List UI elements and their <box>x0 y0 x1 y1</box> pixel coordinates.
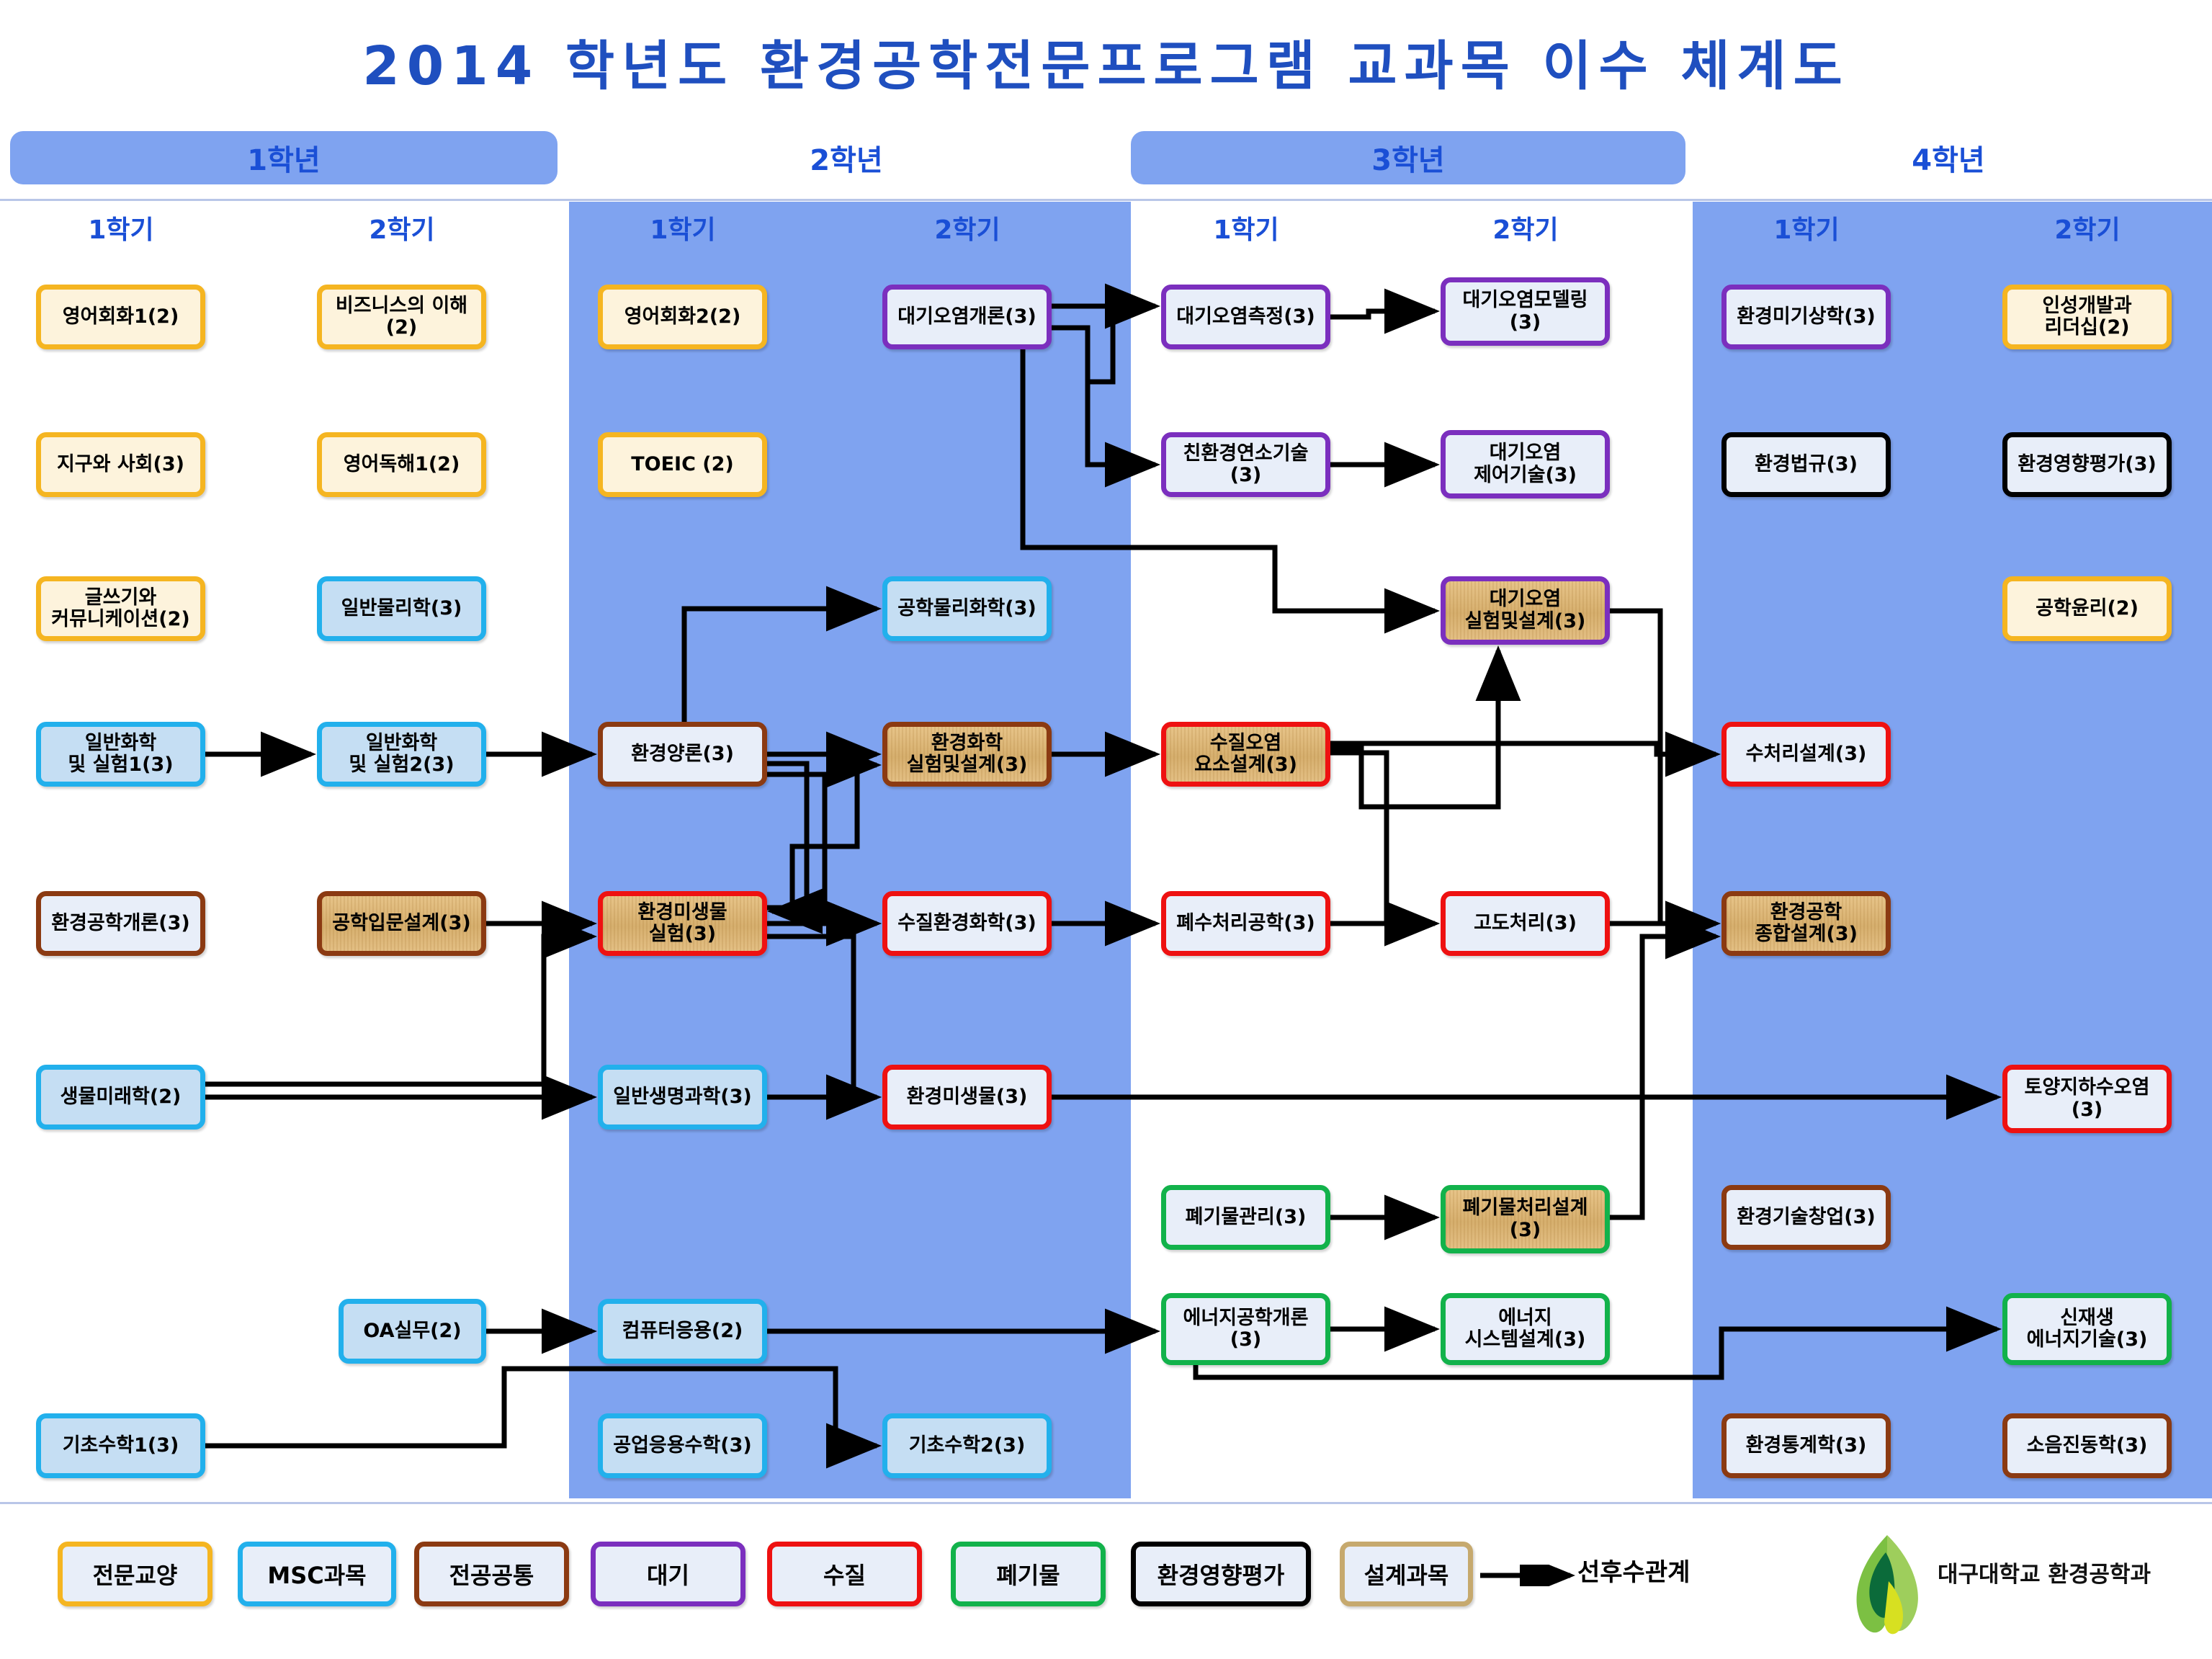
divider-top <box>0 199 2212 201</box>
semester-header-y1s1: 1학기 <box>13 209 229 246</box>
course-box-y2s1_7[interactable]: 공업응용수학(3) <box>598 1413 767 1478</box>
legend-item-design: 설계과목 <box>1340 1542 1473 1606</box>
legend-item-sujil: 수질 <box>767 1542 922 1606</box>
year-header-1: 1학년 <box>10 131 558 184</box>
course-box-y4s2_3[interactable]: 공학윤리(2) <box>2002 576 2172 641</box>
course-box-y1s1_4[interactable]: 일반화학 및 실험1(3) <box>36 722 205 787</box>
course-box-y4s2_2[interactable]: 환경영향평가(3) <box>2002 432 2172 497</box>
course-box-y4s2_4[interactable]: 토양지하수오염 (3) <box>2002 1065 2172 1133</box>
course-box-y2s2_3[interactable]: 환경화학 실험및설계(3) <box>882 722 1052 787</box>
course-box-y2s2_6[interactable]: 기초수학2(3) <box>882 1413 1052 1478</box>
semester-header-y2s2: 2학기 <box>859 209 1075 246</box>
course-box-y3s2_6[interactable]: 에너지 시스템설계(3) <box>1441 1293 1610 1365</box>
semester-header-y4s2: 2학기 <box>1979 209 2195 246</box>
course-box-y4s1_4[interactable]: 환경공학 종합설계(3) <box>1721 891 1891 956</box>
diagram-canvas: 2014 학년도 환경공학전문프로그램 교과목 이수 체계도 1학년 2학년 3… <box>0 0 2212 1659</box>
course-box-y2s1_6[interactable]: 컴퓨터응용(2) <box>598 1299 767 1364</box>
legend-item-gyoyang: 전문교양 <box>58 1542 212 1606</box>
course-box-y2s1_4[interactable]: 환경미생물 실험(3) <box>598 891 767 956</box>
legend-divider <box>0 1502 2212 1504</box>
course-box-y4s1_3[interactable]: 수처리설계(3) <box>1721 722 1891 787</box>
course-box-y4s1_1[interactable]: 환경미기상학(3) <box>1721 285 1891 349</box>
course-box-y4s1_2[interactable]: 환경법규(3) <box>1721 432 1891 497</box>
course-box-y2s1_5[interactable]: 일반생명과학(3) <box>598 1065 767 1130</box>
university-logo-icon <box>1844 1531 1930 1639</box>
course-box-y3s2_2[interactable]: 대기오염 제어기술(3) <box>1441 430 1610 498</box>
legend-arrow-icon <box>1480 1565 1610 1586</box>
course-box-y2s1_2[interactable]: TOEIC (2) <box>598 432 767 497</box>
course-box-y1s1_2[interactable]: 지구와 사회(3) <box>36 432 205 497</box>
course-box-y3s1_1[interactable]: 대기오염측정(3) <box>1161 285 1330 349</box>
course-box-y2s2_1[interactable]: 대기오염개론(3) <box>882 285 1052 349</box>
legend-item-daegi: 대기 <box>591 1542 745 1606</box>
course-box-y1s2_5[interactable]: 공학입문설계(3) <box>317 891 486 956</box>
course-box-y1s2_2[interactable]: 영어독해1(2) <box>317 432 486 497</box>
course-box-y4s2_5[interactable]: 신재생 에너지기술(3) <box>2002 1293 2172 1365</box>
band-year2-sem2 <box>850 202 1131 1498</box>
course-box-y3s1_6[interactable]: 에너지공학개론 (3) <box>1161 1293 1330 1365</box>
semester-header-y2s1: 1학기 <box>575 209 791 246</box>
course-box-y3s1_4[interactable]: 폐수처리공학(3) <box>1161 891 1330 956</box>
course-box-y3s2_1[interactable]: 대기오염모델링 (3) <box>1441 277 1610 346</box>
course-box-y3s1_5[interactable]: 폐기물관리(3) <box>1161 1185 1330 1250</box>
course-box-y1s1_5[interactable]: 환경공학개론(3) <box>36 891 205 956</box>
course-box-y4s1_6[interactable]: 환경통계학(3) <box>1721 1413 1891 1478</box>
year-header-3: 3학년 <box>1131 131 1685 184</box>
course-box-y2s2_2[interactable]: 공학물리화학(3) <box>882 576 1052 641</box>
course-box-y4s2_6[interactable]: 소음진동학(3) <box>2002 1413 2172 1478</box>
university-label: 대구대학교 환경공학과 <box>1938 1556 2151 1588</box>
semester-header-y4s1: 1학기 <box>1698 209 1915 246</box>
course-box-y1s1_1[interactable]: 영어회화1(2) <box>36 285 205 349</box>
legend-item-yeonghyang: 환경영향평가 <box>1131 1542 1311 1606</box>
course-box-y3s2_3[interactable]: 대기오염 실험및설계(3) <box>1441 576 1610 645</box>
course-box-y1s2_1[interactable]: 비즈니스의 이해 (2) <box>317 285 486 349</box>
course-box-y2s2_5[interactable]: 환경미생물(3) <box>882 1065 1052 1130</box>
semester-header-y3s1: 1학기 <box>1138 209 1354 246</box>
course-box-y4s1_5[interactable]: 환경기술창업(3) <box>1721 1185 1891 1250</box>
course-box-y1s2_4[interactable]: 일반화학 및 실험2(3) <box>317 722 486 787</box>
course-box-y2s1_3[interactable]: 환경양론(3) <box>598 722 767 787</box>
course-box-y3s2_5[interactable]: 폐기물처리설계 (3) <box>1441 1185 1610 1253</box>
course-box-y3s2_4[interactable]: 고도처리(3) <box>1441 891 1610 956</box>
semester-header-y1s2: 2학기 <box>294 209 510 246</box>
course-box-y3s1_2[interactable]: 친환경연소기술 (3) <box>1161 432 1330 497</box>
year-header-2: 2학년 <box>569 131 1124 184</box>
legend-item-gongtong: 전공공통 <box>414 1542 569 1606</box>
course-box-y2s1_1[interactable]: 영어회화2(2) <box>598 285 767 349</box>
year-header-4: 4학년 <box>1693 131 2204 184</box>
page-title: 2014 학년도 환경공학전문프로그램 교과목 이수 체계도 <box>0 23 2212 100</box>
legend-item-msc: MSC과목 <box>238 1542 396 1606</box>
semester-header-y3s2: 2학기 <box>1418 209 1634 246</box>
course-box-y4s2_1[interactable]: 인성개발과 리더십(2) <box>2002 285 2172 349</box>
course-box-y1s2_6[interactable]: OA실무(2) <box>339 1299 486 1364</box>
course-box-y1s1_7[interactable]: 기초수학1(3) <box>36 1413 205 1478</box>
course-box-y1s1_6[interactable]: 생물미래학(2) <box>36 1065 205 1130</box>
course-box-y3s1_3[interactable]: 수질오염 요소설계(3) <box>1161 722 1330 787</box>
legend-item-pyegi: 폐기물 <box>951 1542 1106 1606</box>
course-box-y1s2_3[interactable]: 일반물리학(3) <box>317 576 486 641</box>
course-box-y2s2_4[interactable]: 수질환경화학(3) <box>882 891 1052 956</box>
course-box-y1s1_3[interactable]: 글쓰기와 커뮤니케이션(2) <box>36 576 205 641</box>
